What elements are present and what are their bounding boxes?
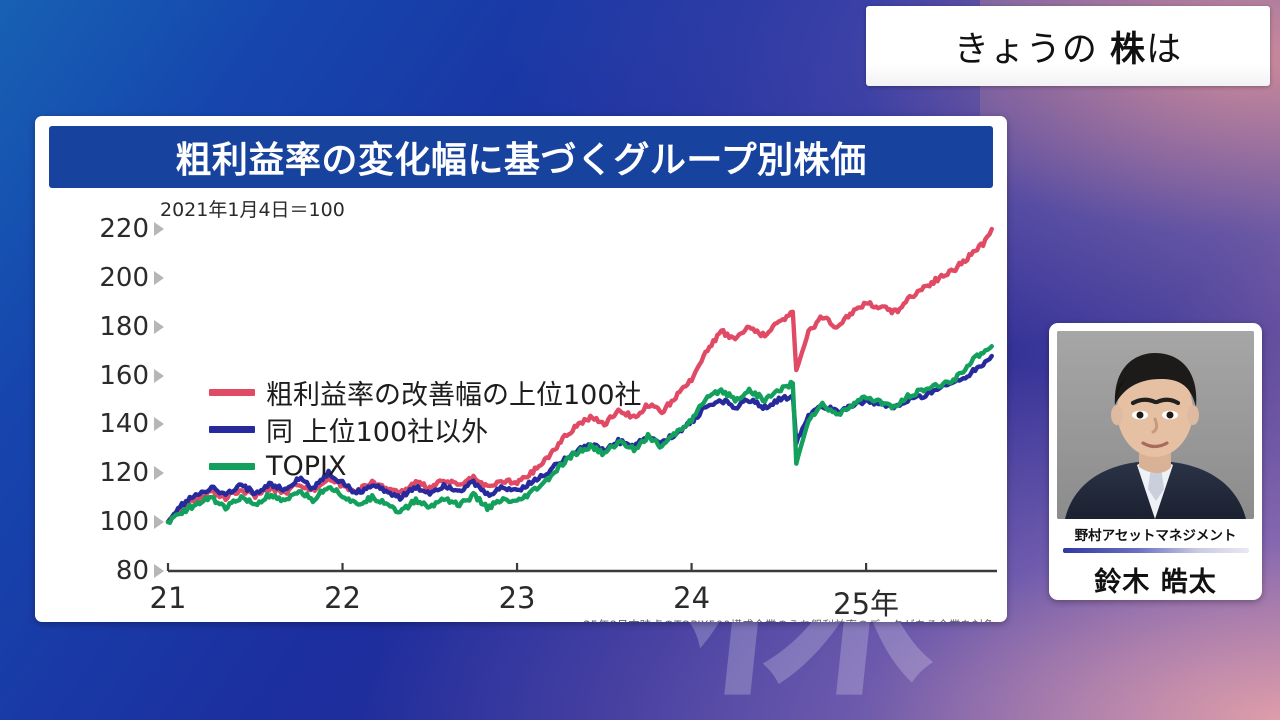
plot-area: 80100120140160180200220 2122232425年 (35, 116, 1007, 622)
presenter-divider (1063, 548, 1249, 553)
legend-item: TOPIX (209, 448, 642, 485)
x-axis-tick-label: 24 (673, 581, 710, 615)
legend-item: 粗利益率の改善幅の上位100社 (209, 374, 642, 411)
legend-item-label: 同 上位100社以外 (266, 410, 488, 449)
chart-panel: 粗利益率の変化幅に基づくグループ別株価 2021年1月4日＝100 801001… (35, 116, 1007, 622)
screen-root: 株 きょうの 株は 粗利益率の変化幅に基づくグループ別株価 2021年1月4日＝… (0, 0, 1280, 720)
program-title-banner: きょうの 株は (866, 6, 1270, 86)
program-title-part3: は (1146, 30, 1182, 70)
program-title-text: きょうの 株は (954, 21, 1182, 72)
legend-color-swatch (209, 426, 255, 433)
legend-item-label: 粗利益率の改善幅の上位100社 (266, 373, 642, 412)
legend-color-swatch (209, 389, 255, 396)
presenter-card: 野村アセットマネジメント 鈴木 皓太 (1049, 323, 1262, 600)
footnote-line: 25年8月末時点のTOPIX500構成企業のうち粗利益率のデータがある企業を対象 (583, 619, 995, 622)
program-title-part2: 株 (1110, 30, 1146, 70)
presenter-affiliation: 野村アセットマネジメント (1057, 524, 1254, 544)
presenter-photo (1057, 331, 1254, 519)
x-axis-tick-label: 25年 (833, 581, 899, 622)
x-axis-labels: 2122232425年 (35, 116, 1007, 622)
x-axis-tick-label: 23 (499, 581, 536, 615)
program-title-part1: きょうの (954, 30, 1110, 70)
chart-footnote: 25年8月末時点のTOPIX500構成企業のうち粗利益率のデータがある企業を対象… (583, 619, 995, 622)
legend-item-label: TOPIX (266, 451, 347, 482)
x-axis-tick-label: 22 (324, 581, 361, 615)
legend-item: 同 上位100社以外 (209, 411, 642, 448)
presenter-portrait-image (1057, 331, 1254, 519)
x-axis-tick-label: 21 (150, 581, 187, 615)
chart-legend: 粗利益率の改善幅の上位100社同 上位100社以外TOPIX (209, 374, 642, 485)
legend-color-swatch (209, 463, 255, 470)
presenter-name: 鈴木 皓太 (1057, 560, 1254, 599)
